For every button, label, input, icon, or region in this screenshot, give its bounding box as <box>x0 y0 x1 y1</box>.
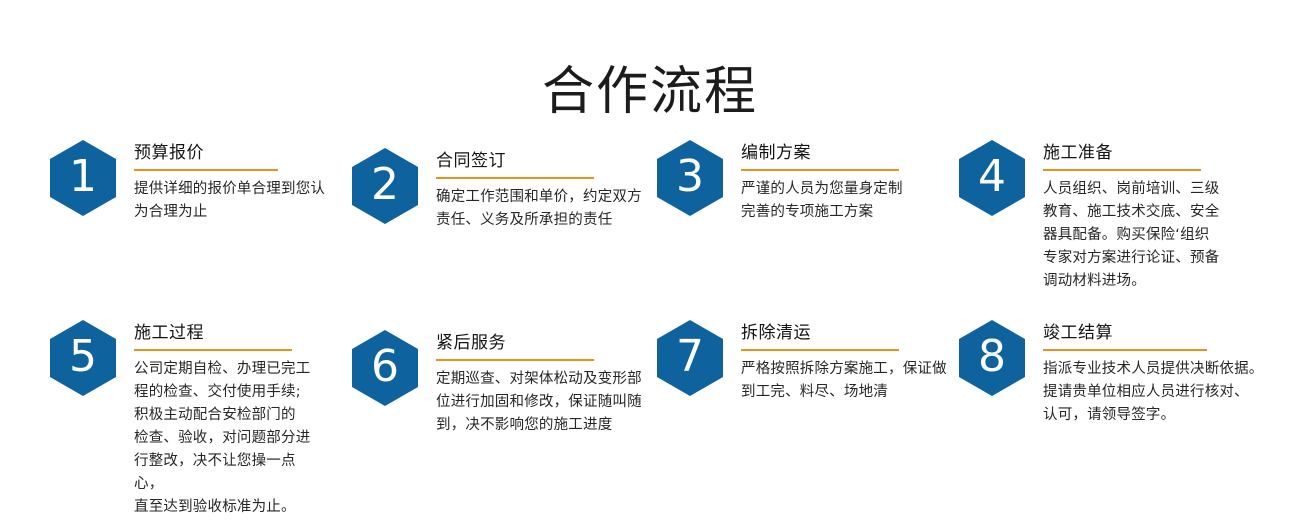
step-number-badge-5: 5 <box>50 320 116 396</box>
step-description-7: 严格按照拆除方案施工，保证做 到工完、料尽、场地清 <box>741 358 953 404</box>
step-number-3: 3 <box>676 155 704 199</box>
step-number-badge-3: 3 <box>657 140 723 216</box>
step-number-5: 5 <box>69 335 97 379</box>
step-title-4: 施工准备 <box>1043 142 1243 164</box>
step-number-badge-4: 4 <box>959 140 1025 216</box>
step-body-5: 施工过程 公司定期自检、办理已完工 程的检查、交付使用手续; 积极主动配合安检部… <box>134 320 324 519</box>
step-underline-5 <box>134 349 292 351</box>
step-underline-6 <box>436 359 594 361</box>
process-step-4[interactable]: 4 施工准备 人员组织、岗前培训、三级 教育、施工技术交底、安全 器具配备。购买… <box>959 140 1243 293</box>
step-title-7: 拆除清运 <box>741 322 953 344</box>
step-description-3: 严谨的人员为您量身定制 完善的专项施工方案 <box>741 178 929 224</box>
step-underline-3 <box>741 169 899 171</box>
step-number-1: 1 <box>69 155 97 199</box>
step-underline-7 <box>741 349 899 351</box>
step-description-4: 人员组织、岗前培训、三级 教育、施工技术交底、安全 器具配备。购买保险‘组织 专… <box>1043 178 1243 293</box>
step-body-4: 施工准备 人员组织、岗前培训、三级 教育、施工技术交底、安全 器具配备。购买保险… <box>1043 140 1243 293</box>
step-number-badge-6: 6 <box>352 330 418 406</box>
step-description-8: 指派专业技术人员提供决断依据。 提请贵单位相应人员进行核对、 认可，请领导签字。 <box>1043 358 1267 427</box>
step-description-6: 定期巡查、对架体松动及变形部 位进行加固和修改，保证随叫随 到，决不影响您的施工… <box>436 368 651 437</box>
step-body-6: 紧后服务 定期巡查、对架体松动及变形部 位进行加固和修改，保证随叫随 到，决不影… <box>436 330 651 437</box>
process-step-7[interactable]: 7 拆除清运 严格按照拆除方案施工，保证做 到工完、料尽、场地清 <box>657 320 953 404</box>
step-body-7: 拆除清运 严格按照拆除方案施工，保证做 到工完、料尽、场地清 <box>741 320 953 404</box>
process-step-6[interactable]: 6 紧后服务 定期巡查、对架体松动及变形部 位进行加固和修改，保证随叫随 到，决… <box>352 330 651 437</box>
step-description-5: 公司定期自检、办理已完工 程的检查、交付使用手续; 积极主动配合安检部门的 检查… <box>134 358 324 519</box>
step-description-2: 确定工作范围和单价，约定双方 责任、义务及所承担的责任 <box>436 186 646 232</box>
step-title-6: 紧后服务 <box>436 332 651 354</box>
process-step-8[interactable]: 8 竣工结算 指派专业技术人员提供决断依据。 提请贵单位相应人员进行核对、 认可… <box>959 320 1267 427</box>
step-underline-4 <box>1043 169 1201 171</box>
step-body-3: 编制方案 严谨的人员为您量身定制 完善的专项施工方案 <box>741 140 929 224</box>
step-number-8: 8 <box>978 335 1006 379</box>
step-title-3: 编制方案 <box>741 142 929 164</box>
step-number-badge-7: 7 <box>657 320 723 396</box>
step-underline-8 <box>1043 349 1207 351</box>
step-underline-1 <box>134 169 278 171</box>
step-body-8: 竣工结算 指派专业技术人员提供决断依据。 提请贵单位相应人员进行核对、 认可，请… <box>1043 320 1267 427</box>
step-body-2: 合同签订 确定工作范围和单价，约定双方 责任、义务及所承担的责任 <box>436 148 646 232</box>
step-number-2: 2 <box>371 163 399 207</box>
step-number-7: 7 <box>676 335 704 379</box>
step-title-1: 预算报价 <box>134 142 330 164</box>
step-number-badge-1: 1 <box>50 140 116 216</box>
step-description-1: 提供详细的报价单合理到您认 为合理为止 <box>134 178 330 224</box>
process-step-2[interactable]: 2 合同签订 确定工作范围和单价，约定双方 责任、义务及所承担的责任 <box>352 148 646 232</box>
process-flow-steps: 1 预算报价 提供详细的报价单合理到您认 为合理为止 2 合同签订 确定工作范围… <box>0 0 1300 532</box>
step-title-8: 竣工结算 <box>1043 322 1267 344</box>
step-title-2: 合同签订 <box>436 150 646 172</box>
step-number-badge-2: 2 <box>352 148 418 224</box>
step-title-5: 施工过程 <box>134 322 324 344</box>
step-number-4: 4 <box>978 155 1006 199</box>
process-step-3[interactable]: 3 编制方案 严谨的人员为您量身定制 完善的专项施工方案 <box>657 140 929 224</box>
process-step-5[interactable]: 5 施工过程 公司定期自检、办理已完工 程的检查、交付使用手续; 积极主动配合安… <box>50 320 324 519</box>
step-body-1: 预算报价 提供详细的报价单合理到您认 为合理为止 <box>134 140 330 224</box>
step-number-badge-8: 8 <box>959 320 1025 396</box>
step-underline-2 <box>436 177 594 179</box>
step-number-6: 6 <box>371 345 399 389</box>
process-step-1[interactable]: 1 预算报价 提供详细的报价单合理到您认 为合理为止 <box>50 140 330 224</box>
